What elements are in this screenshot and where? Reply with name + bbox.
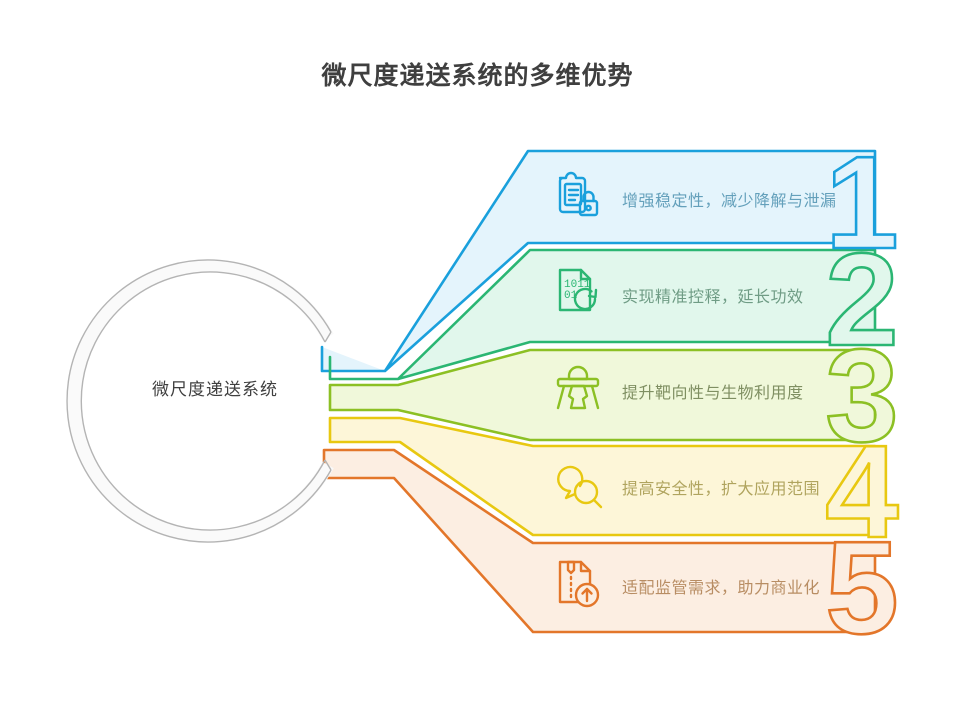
hub-ring-arc bbox=[74, 266, 328, 536]
row-label-3: 提升靶向性与生物利用度 bbox=[622, 379, 804, 403]
hub-ring-arc-inner bbox=[81, 272, 325, 530]
row-label-2: 实现精准控释，延长功效 bbox=[622, 283, 804, 307]
hub-ring-arc-outer bbox=[67, 260, 331, 542]
infographic-canvas: 微尺度递送系统的多维优势 1 2 3 4 5 bbox=[0, 0, 955, 722]
row-label-4: 提高安全性，扩大应用范围 bbox=[622, 475, 820, 499]
row-label-5: 适配监管需求，助力商业化 bbox=[622, 574, 820, 598]
row-number-5: 5 bbox=[825, 514, 898, 661]
hub-ring bbox=[67, 260, 331, 542]
diagram-svg: 1 2 3 4 5 1 bbox=[0, 0, 955, 722]
row-label-1: 增强稳定性，减少降解与泄漏 bbox=[622, 187, 837, 211]
hub-label: 微尺度递送系统 bbox=[70, 375, 360, 400]
